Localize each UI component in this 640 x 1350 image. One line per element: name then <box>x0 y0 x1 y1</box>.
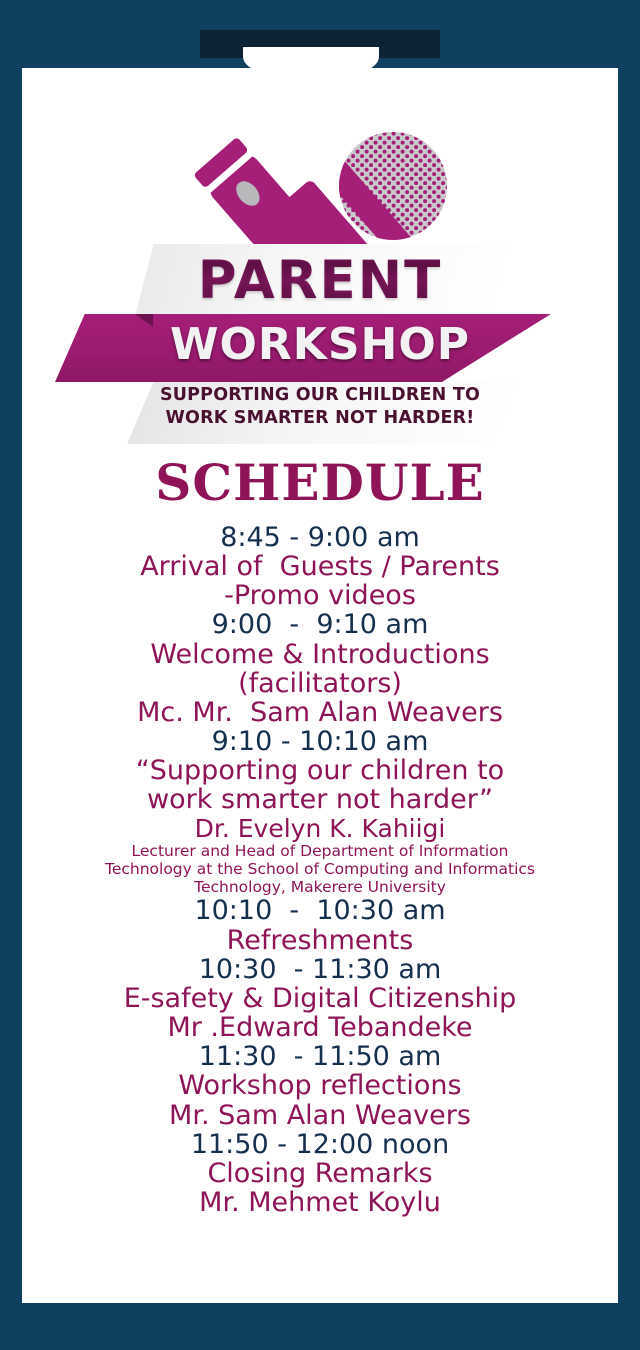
schedule-entry: 9:10 - 10:10 am“Supporting our children … <box>22 727 618 896</box>
schedule-entry-time: 11:50 - 12:00 noon <box>22 1130 618 1159</box>
schedule-entry: 10:30 - 11:30 amE-safety & Digital Citiz… <box>22 955 618 1042</box>
schedule-entry: 10:10 - 10:30 amRefreshments <box>22 896 618 954</box>
schedule-entry: 11:50 - 12:00 noonClosing RemarksMr. Meh… <box>22 1130 618 1217</box>
schedule-entry-activity: Arrival of Guests / Parents <box>22 552 618 581</box>
schedule-entry: 11:30 - 11:50 amWorkshop reflectionsMr. … <box>22 1042 618 1129</box>
subtitle-line-1: SUPPORTING OUR CHILDREN TO <box>160 385 480 405</box>
schedule-entry-time: 9:10 - 10:10 am <box>22 727 618 756</box>
schedule-heading: SCHEDULE <box>22 453 618 512</box>
schedule-entry-time: 9:00 - 9:10 am <box>22 610 618 639</box>
microphone-illustration <box>22 68 618 248</box>
schedule-entry-activity: Workshop reflections <box>22 1071 618 1100</box>
schedule-entry-activity: work smarter not harder” <box>22 785 618 814</box>
schedule-entry-activity: E-safety & Digital Citizenship <box>22 984 618 1013</box>
schedule-entry-activity: -Promo videos <box>22 581 618 610</box>
schedule-entry-time: 11:30 - 11:50 am <box>22 1042 618 1071</box>
subtitle-line-2: WORK SMARTER NOT HARDER! <box>166 408 475 428</box>
poster-root: PARENT WORKSHOP SUPPORTING OUR CHILDREN … <box>0 0 640 1350</box>
schedule-entry-activity: Closing Remarks <box>22 1159 618 1188</box>
schedule-entry-activity: Mc. Mr. Sam Alan Weavers <box>22 698 618 727</box>
microphone-icon <box>22 68 618 248</box>
schedule-entry: 9:00 - 9:10 amWelcome & Introductions(fa… <box>22 610 618 727</box>
schedule-entry-activity: Mr. Mehmet Koylu <box>22 1188 618 1217</box>
schedule-entry-time: 10:10 - 10:30 am <box>22 896 618 925</box>
title-subtitle: SUPPORTING OUR CHILDREN TO WORK SMARTER … <box>22 384 618 430</box>
schedule-entry-affiliation: Lecturer and Head of Department of Infor… <box>22 842 618 860</box>
schedule-entry: 8:45 - 9:00 amArrival of Guests / Parent… <box>22 523 618 610</box>
title-parent: PARENT <box>22 250 618 311</box>
schedule-list: 8:45 - 9:00 amArrival of Guests / Parent… <box>22 523 618 1217</box>
schedule-entry-speaker: Dr. Evelyn K. Kahiigi <box>22 815 618 842</box>
schedule-entry-activity: Welcome & Introductions <box>22 640 618 669</box>
schedule-entry-affiliation: Technology, Makerere University <box>22 878 618 896</box>
schedule-entry-activity: (facilitators) <box>22 669 618 698</box>
schedule-entry-time: 8:45 - 9:00 am <box>22 523 618 552</box>
schedule-entry-activity: “Supporting our children to <box>22 756 618 785</box>
schedule-entry-activity: Refreshments <box>22 926 618 955</box>
poster-card: PARENT WORKSHOP SUPPORTING OUR CHILDREN … <box>22 68 618 1303</box>
schedule-entry-time: 10:30 - 11:30 am <box>22 955 618 984</box>
schedule-entry-activity: Mr .Edward Tebandeke <box>22 1013 618 1042</box>
title-banner: PARENT WORKSHOP SUPPORTING OUR CHILDREN … <box>22 244 618 444</box>
title-workshop: WORKSHOP <box>22 319 618 370</box>
schedule-entry-affiliation: Technology at the School of Computing an… <box>22 860 618 878</box>
schedule-entry-activity: Mr. Sam Alan Weavers <box>22 1101 618 1130</box>
